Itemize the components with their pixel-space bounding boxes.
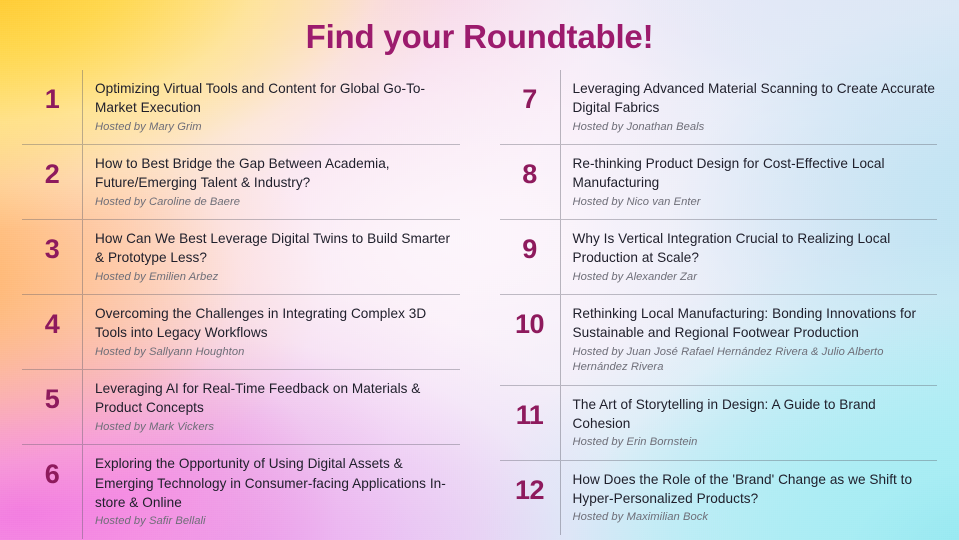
roundtable-item[interactable]: 12How Does the Role of the 'Brand' Chang… — [500, 461, 938, 535]
roundtable-host: Hosted by Jonathan Beals — [573, 120, 938, 135]
roundtable-body: The Art of Storytelling in Design: A Gui… — [561, 395, 938, 451]
slide-canvas: Find your Roundtable! 1Optimizing Virtua… — [0, 0, 959, 540]
roundtable-title: How Can We Best Leverage Digital Twins t… — [95, 229, 460, 268]
roundtable-number: 11 — [500, 395, 560, 429]
roundtable-item[interactable]: 4Overcoming the Challenges in Integratin… — [22, 295, 460, 370]
roundtable-number: 9 — [500, 229, 560, 263]
roundtable-body: How Does the Role of the 'Brand' Change … — [561, 470, 938, 526]
roundtable-title: Leveraging AI for Real-Time Feedback on … — [95, 379, 460, 418]
roundtable-item[interactable]: 1Optimizing Virtual Tools and Content fo… — [22, 70, 460, 145]
roundtable-item[interactable]: 2How to Best Bridge the Gap Between Acad… — [22, 145, 460, 220]
roundtable-item[interactable]: 6Exploring the Opportunity of Using Digi… — [22, 445, 460, 538]
roundtable-body: Re-thinking Product Design for Cost-Effe… — [561, 154, 938, 210]
roundtable-title: Rethinking Local Manufacturing: Bonding … — [573, 304, 938, 343]
roundtable-host: Hosted by Sallyann Houghton — [95, 345, 460, 360]
roundtable-number: 10 — [500, 304, 560, 338]
roundtable-title: Overcoming the Challenges in Integrating… — [95, 304, 460, 343]
roundtable-host: Hosted by Caroline de Baere — [95, 195, 460, 210]
roundtable-title: Re-thinking Product Design for Cost-Effe… — [573, 154, 938, 193]
roundtable-host: Hosted by Nico van Enter — [573, 195, 938, 210]
roundtable-title: How to Best Bridge the Gap Between Acade… — [95, 154, 460, 193]
roundtable-item[interactable]: 9Why Is Vertical Integration Crucial to … — [500, 220, 938, 295]
roundtable-host: Hosted by Mark Vickers — [95, 420, 460, 435]
roundtable-body: Why Is Vertical Integration Crucial to R… — [561, 229, 938, 285]
roundtable-body: Optimizing Virtual Tools and Content for… — [83, 79, 460, 135]
roundtable-item[interactable]: 7Leveraging Advanced Material Scanning t… — [500, 70, 938, 145]
roundtable-host: Hosted by Juan José Rafael Hernández Riv… — [573, 345, 938, 376]
roundtable-title: Leveraging Advanced Material Scanning to… — [573, 79, 938, 118]
roundtable-grid: 1Optimizing Virtual Tools and Content fo… — [0, 70, 959, 530]
roundtable-number: 6 — [22, 454, 82, 488]
roundtable-host: Hosted by Emilien Arbez — [95, 270, 460, 285]
roundtable-number: 8 — [500, 154, 560, 188]
roundtable-body: How Can We Best Leverage Digital Twins t… — [83, 229, 460, 285]
roundtable-number: 7 — [500, 79, 560, 113]
page-title: Find your Roundtable! — [0, 18, 959, 56]
roundtable-number: 2 — [22, 154, 82, 188]
roundtable-host: Hosted by Maximilian Bock — [573, 510, 938, 525]
roundtable-title: The Art of Storytelling in Design: A Gui… — [573, 395, 938, 434]
roundtable-number: 12 — [500, 470, 560, 504]
roundtable-number: 1 — [22, 79, 82, 113]
roundtable-body: Rethinking Local Manufacturing: Bonding … — [561, 304, 938, 376]
roundtable-item[interactable]: 10Rethinking Local Manufacturing: Bondin… — [500, 295, 938, 386]
roundtable-body: Leveraging Advanced Material Scanning to… — [561, 79, 938, 135]
roundtable-body: Leveraging AI for Real-Time Feedback on … — [83, 379, 460, 435]
roundtable-number: 5 — [22, 379, 82, 413]
roundtable-host: Hosted by Mary Grim — [95, 120, 460, 135]
roundtable-item[interactable]: 11The Art of Storytelling in Design: A G… — [500, 386, 938, 461]
roundtable-title: Exploring the Opportunity of Using Digit… — [95, 454, 460, 512]
roundtable-host: Hosted by Safir Bellali — [95, 514, 460, 529]
roundtable-item[interactable]: 3How Can We Best Leverage Digital Twins … — [22, 220, 460, 295]
roundtable-body: Overcoming the Challenges in Integrating… — [83, 304, 460, 360]
roundtable-body: Exploring the Opportunity of Using Digit… — [83, 454, 460, 529]
roundtable-title: How Does the Role of the 'Brand' Change … — [573, 470, 938, 509]
roundtable-title: Optimizing Virtual Tools and Content for… — [95, 79, 460, 118]
roundtable-number: 3 — [22, 229, 82, 263]
right-column: 7Leveraging Advanced Material Scanning t… — [500, 70, 938, 530]
roundtable-item[interactable]: 5Leveraging AI for Real-Time Feedback on… — [22, 370, 460, 445]
roundtable-item[interactable]: 8Re-thinking Product Design for Cost-Eff… — [500, 145, 938, 220]
roundtable-title: Why Is Vertical Integration Crucial to R… — [573, 229, 938, 268]
roundtable-host: Hosted by Erin Bornstein — [573, 435, 938, 450]
roundtable-host: Hosted by Alexander Zar — [573, 270, 938, 285]
roundtable-body: How to Best Bridge the Gap Between Acade… — [83, 154, 460, 210]
roundtable-number: 4 — [22, 304, 82, 338]
left-column: 1Optimizing Virtual Tools and Content fo… — [22, 70, 460, 530]
